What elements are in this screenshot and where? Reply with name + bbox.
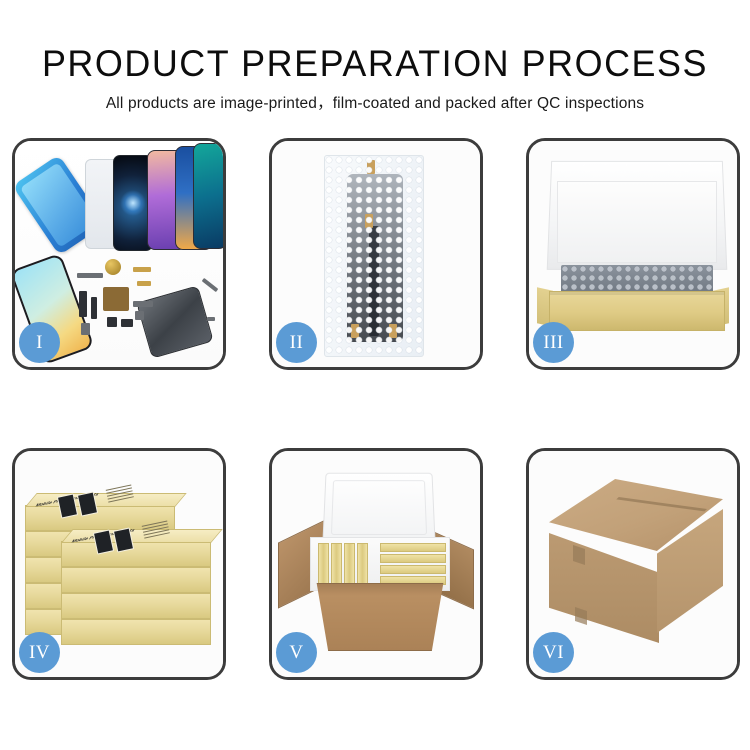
chip-grid-part [103, 287, 129, 311]
screw-part [207, 317, 215, 321]
process-step-4-panel: Mobile Phone Spare Parts Mobile Phone Sp… [12, 448, 226, 680]
process-step-1-panel: I [12, 138, 226, 370]
stacked-box [61, 593, 211, 619]
bubble-wrap-bag [324, 155, 424, 357]
teal-gradient-phone [193, 143, 223, 249]
step-6-badge: VI [533, 632, 574, 673]
phone-back-housing [136, 285, 214, 358]
process-step-2-panel: II [269, 138, 483, 370]
carton-left-face [549, 533, 659, 643]
carton-tape-mark [575, 607, 587, 625]
gold-component [105, 259, 121, 275]
page-title: PRODUCT PREPARATION PROCESS [11, 45, 739, 82]
spare-part [133, 267, 151, 272]
step-4-badge: IV [19, 632, 60, 673]
kraft-box-base [549, 291, 725, 331]
product-preparation-process-infographic: PRODUCT PREPARATION PROCESS All products… [0, 0, 750, 750]
step-3-badge: III [533, 322, 574, 363]
flex-cable-part [91, 297, 97, 319]
stacked-box-printed: Mobile Phone Spare Parts [61, 541, 211, 567]
flex-cable-part [79, 291, 87, 317]
spare-part [121, 319, 133, 327]
step-2-badge: II [276, 322, 317, 363]
spare-part [107, 317, 117, 327]
step-5-badge: V [276, 632, 317, 673]
process-step-6-panel: VI [526, 448, 740, 680]
foam-sheet [557, 181, 717, 263]
process-step-3-panel: III [526, 138, 740, 370]
process-step-grid: I II [12, 138, 740, 680]
header: PRODUCT PREPARATION PROCESS All products… [0, 0, 750, 112]
stacked-box [61, 619, 211, 645]
spare-part [137, 281, 151, 286]
process-step-5-panel: V [269, 448, 483, 680]
spare-part [81, 323, 90, 335]
stacked-box [61, 567, 211, 593]
screwdriver-tool [202, 278, 219, 292]
step-1-badge: I [19, 322, 60, 363]
page-subtitle: All products are image-printed，film-coat… [0, 96, 750, 112]
carton-tape-mark [573, 545, 585, 565]
carton-front-wall [308, 583, 452, 651]
styrofoam-lid [322, 473, 435, 543]
spare-part [133, 301, 153, 307]
spare-part [135, 311, 144, 320]
spare-part [77, 273, 103, 278]
bubble-texture [325, 156, 423, 356]
boxes-horizontal-group [380, 543, 446, 585]
